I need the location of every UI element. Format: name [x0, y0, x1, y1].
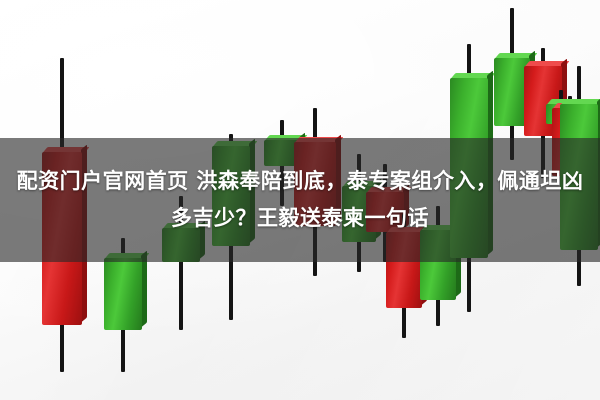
headline-text: 配资门户官网首页 洪森奉陪到底，泰专案组介入，佩通坦凶多吉少？王毅送泰柬一句话 [0, 163, 600, 237]
candle-face [104, 258, 142, 330]
candlestick-banner: 配资门户官网首页 洪森奉陪到底，泰专案组介入，佩通坦凶多吉少？王毅送泰柬一句话 [0, 0, 600, 400]
headline-overlay-band: 配资门户官网首页 洪森奉陪到底，泰专案组介入，佩通坦凶多吉少？王毅送泰柬一句话 [0, 138, 600, 262]
candle-body-bullish [104, 258, 142, 330]
